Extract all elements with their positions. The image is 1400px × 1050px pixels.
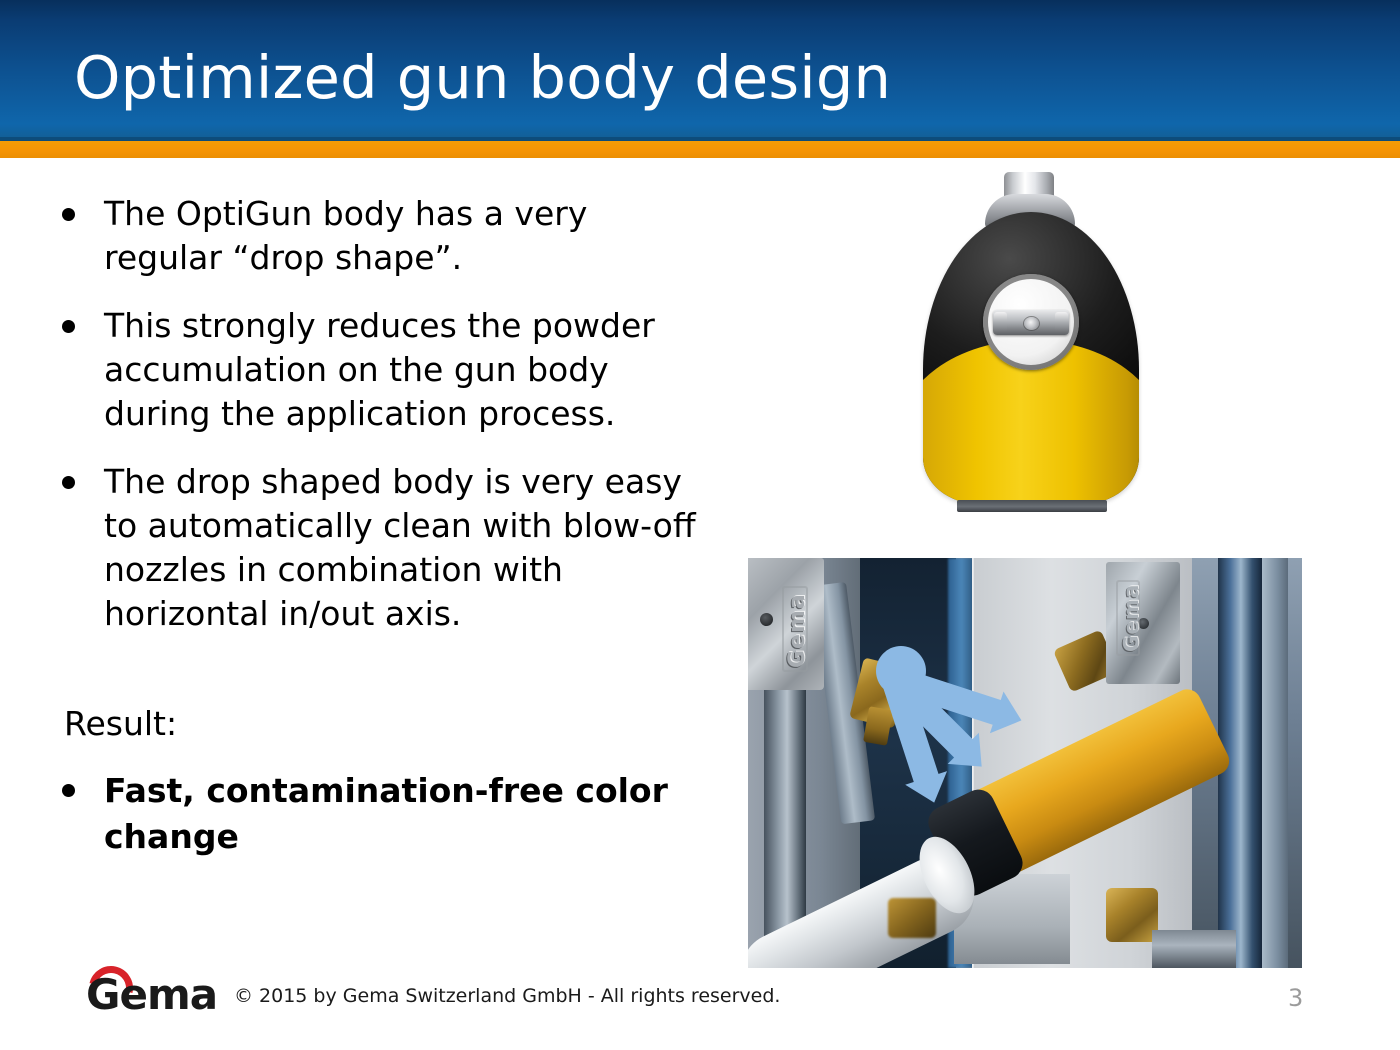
photo-right-clamp-emboss-label: Gema <box>1116 580 1140 656</box>
bullet-dot-icon <box>62 320 75 333</box>
logo-wordmark: Gema <box>86 973 217 1017</box>
slide-canvas: Optimized gun body design The OptiGun bo… <box>0 0 1400 1050</box>
title-band: Optimized gun body design <box>0 0 1400 141</box>
list-item-result: Fast, contamination-free color change <box>62 768 702 860</box>
photo-lower-bracket <box>1152 930 1236 968</box>
gun-nozzle-recess <box>983 274 1079 370</box>
bullet-dot-icon <box>62 784 75 797</box>
page-title: Optimized gun body design <box>74 46 891 110</box>
page-number: 3 <box>1288 984 1303 1012</box>
bullet-list: The OptiGun body has a very regular “dro… <box>62 192 702 884</box>
result-bullet-text: Fast, contamination-free color change <box>104 768 702 860</box>
copyright-notice: © 2015 by Gema Switzerland GmbH - All ri… <box>234 984 780 1008</box>
gun-nozzle-center-icon <box>1024 317 1039 330</box>
result-label: Result: <box>62 702 702 746</box>
blow-off-nozzle-photo: Gema Gema <box>748 558 1302 968</box>
bullet-text: The OptiGun body has a very regular “dro… <box>104 192 702 280</box>
photo-vertical-rail-secondary <box>1262 558 1288 968</box>
gun-drop-shaped-body <box>923 212 1139 504</box>
list-item: The drop shaped body is very easy to aut… <box>62 460 702 636</box>
bullet-text: The drop shaped body is very easy to aut… <box>104 460 702 636</box>
photo-left-clamp-emboss-label: Gema <box>782 586 808 672</box>
accent-divider-bar <box>0 141 1400 158</box>
bullet-text: This strongly reduces the powder accumul… <box>104 304 702 436</box>
gema-logo: Gema <box>86 966 216 1016</box>
list-item: This strongly reduces the powder accumul… <box>62 304 702 436</box>
bullet-dot-icon <box>62 476 75 489</box>
gun-base-plate <box>957 500 1107 512</box>
gun-nozzle-part <box>993 310 1069 335</box>
bullet-dot-icon <box>62 208 75 221</box>
gun-body-illustration <box>905 172 1155 517</box>
photo-left-clamp-hole <box>760 613 773 626</box>
air-flow-arrows <box>876 646 1126 926</box>
list-item: The OptiGun body has a very regular “dro… <box>62 192 702 280</box>
